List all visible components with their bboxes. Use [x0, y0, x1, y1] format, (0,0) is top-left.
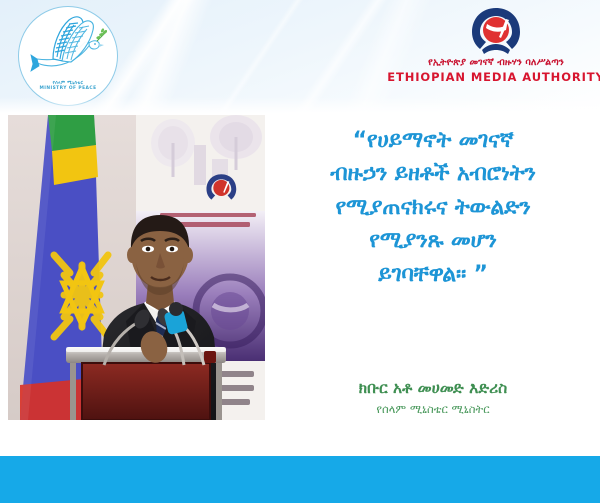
quote-line-2: ብዙኃን ይዘቶች አብሮነትን	[272, 157, 594, 190]
header-light-streak	[264, 0, 411, 113]
quote-line-4: የሚያንጹ መሆን	[272, 224, 594, 257]
header-light-streak	[186, 0, 322, 113]
quote-text: “የሀይማኖት መገናኛ ብዙኃን ይዘቶች አብሮነትን የሚያጠናክሩና ት…	[272, 124, 594, 291]
speaker-name: ክቡር አቶ መሀመድ እድሪስ	[272, 378, 594, 399]
poster-card: የሰላም ሚኒስቴር MINISTRY OF PEACE የኢትዮጵያ መገናኛ…	[0, 0, 600, 503]
attribution: ክቡር አቶ መሀመድ እድሪስ የሰላም ሚኒስቴር ሚኒስትር	[272, 378, 594, 417]
ministry-logo-english-label: MINISTRY OF PEACE	[39, 87, 96, 92]
speaker-photo	[8, 115, 265, 420]
quote-line-5: ይገባቸዋል። ”	[272, 258, 594, 291]
authority-logo-english-label: ETHIOPIAN MEDIA AUTHORITY	[387, 70, 600, 84]
quote-line-1: “የሀይማኖት መገናኛ	[272, 124, 594, 157]
ministry-of-peace-logo: የሰላም ሚኒስቴር MINISTRY OF PEACE	[18, 6, 118, 106]
speaker-photo-illustration	[8, 115, 265, 420]
quote-line-3: የሚያጠናክሩና ትውልድን	[272, 191, 594, 224]
poster-header: የሰላም ሚኒስቴር MINISTRY OF PEACE የኢትዮጵያ መገናኛ…	[0, 0, 600, 113]
bottom-accent-bar	[0, 456, 600, 503]
dove-olive-branch-icon	[29, 15, 107, 81]
authority-logo-amharic-label: የኢትዮጵያ መገናኛ ብዙሃን ባለሥልጣን	[428, 57, 564, 68]
speaker-role: የሰላም ሚኒስቴር ሚኒስትር	[272, 401, 594, 417]
ethiopian-media-authority-emblem-icon	[468, 6, 524, 56]
ministry-of-peace-logo-text: የሰላም ሚኒስቴር MINISTRY OF PEACE	[39, 82, 96, 91]
ethiopian-media-authority-logo: የኢትዮጵያ መገናኛ ብዙሃን ባለሥልጣን ETHIOPIAN MEDIA …	[398, 6, 594, 102]
